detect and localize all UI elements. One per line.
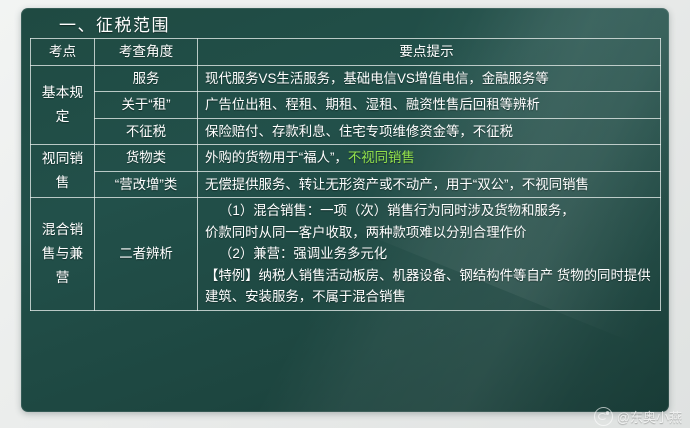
group-label-shitongxiaoshou: 视同销售 [31,145,95,198]
detail-cell-yinggaizeng: 无偿提供服务、转让无形资产或不动产，用于“双公”，不视同销售 [198,171,661,198]
angle-cell-huowulei: 货物类 [95,145,198,172]
group-label-jibenguiding: 基本规定 [31,65,95,145]
detail-cell-buzhengshui: 保险赔付、存款利息、住宅专项维修资金等，不征税 [198,118,661,145]
group-label-hunhexiaoshou: 混合销售与兼营 [31,198,95,311]
angle-cell-zu: 关于“租” [95,92,198,119]
table-header-row: 考点 考查角度 要点提示 [31,39,661,66]
detail-cell-zu: 广告位出租、程租、期租、湿租、融资性售后回租等辨析 [198,92,661,119]
table-row: 基本规定 服务 现代服务VS生活服务，基础电信VS增值电信，金融服务等 [31,65,661,92]
table-row: 不征税 保险赔付、存款利息、住宅专项维修资金等，不征税 [31,118,661,145]
table-row: 混合销售与兼营 二者辨析 （1）混合销售：一项（次）销售行为同时涉及货物和服务，… [31,198,661,311]
header-cell-yaodiantishi: 要点提示 [198,39,661,66]
detail-text-highlight: 不视同销售 [348,150,415,165]
angle-cell-yinggaizeng: “营改增”类 [95,171,198,198]
detail-cell-huowulei: 外购的货物用于“福人”，不视同销售 [198,145,661,172]
detail-line-3: （2）兼营：强调业务多元化 [205,243,655,265]
detail-cell-fuwu: 现代服务VS生活服务，基础电信VS增值电信，金融服务等 [198,65,661,92]
detail-cell-erzhebianxi: （1）混合销售：一项（次）销售行为同时涉及货物和服务， 价款同时从同一客户收取，… [198,198,661,311]
header-cell-kaodian: 考点 [31,39,95,66]
angle-cell-erzhebianxi: 二者辨析 [95,198,198,311]
table-row: “营改增”类 无偿提供服务、转让无形资产或不动产，用于“双公”，不视同销售 [31,171,661,198]
detail-text-plain: 外购的货物用于“福人”， [205,150,348,165]
detail-line-4: 【特例】纳税人销售活动板房、机器设备、钢结构件等自产 [205,268,553,283]
slide-canvas: 一、征税范围 考点 考查角度 要点提示 基本规定 服务 现代服务VS生活服务，基… [0,0,690,428]
lesson-board-panel: 一、征税范围 考点 考查角度 要点提示 基本规定 服务 现代服务VS生活服务，基… [21,8,669,412]
angle-cell-fuwu: 服务 [95,65,198,92]
tax-scope-table: 考点 考查角度 要点提示 基本规定 服务 现代服务VS生活服务，基础电信VS增值… [30,38,661,311]
page-title: 一、征税范围 [59,11,170,36]
header-cell-kaochajiaodu: 考查角度 [95,39,198,66]
detail-line-1: （1）混合销售：一项（次）销售行为同时涉及货物和服务， [205,200,655,222]
slide-title-row: 一、征税范围 [21,8,669,38]
table-row: 视同销售 货物类 外购的货物用于“福人”，不视同销售 [31,145,661,172]
detail-line-2: 价款同时从同一客户收取，两种款项难以分别合理作价 [205,225,526,240]
angle-cell-buzhengshui: 不征税 [95,118,198,145]
table-row: 关于“租” 广告位出租、程租、期租、湿租、融资性售后回租等辨析 [31,92,661,119]
